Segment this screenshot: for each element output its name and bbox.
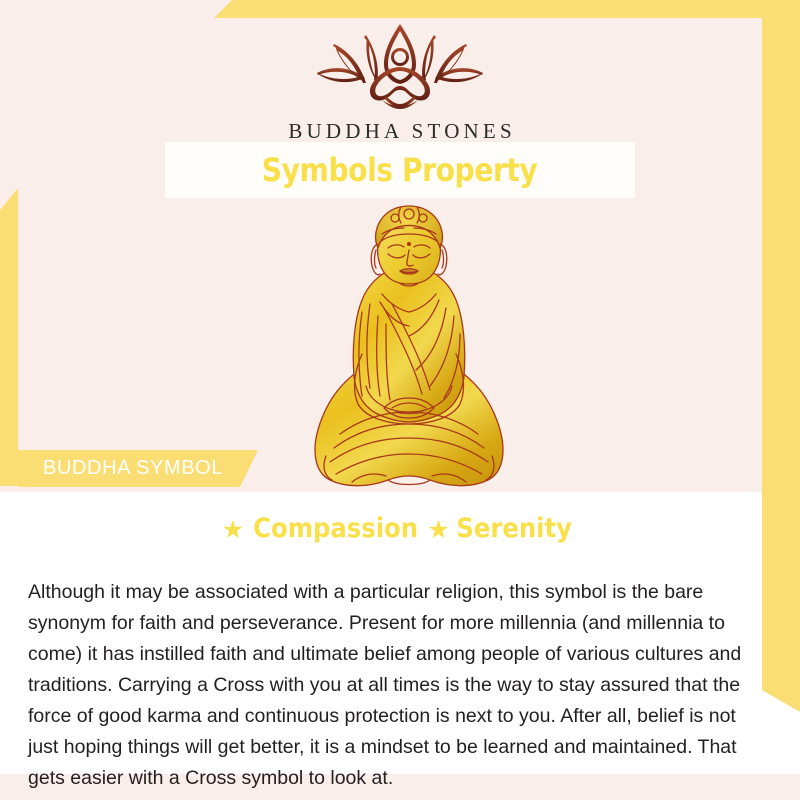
title-banner: Symbols Property: [165, 142, 635, 198]
brand-name: BUDDHA STONES: [0, 119, 800, 144]
lotus-meditation-figure-icon: [312, 22, 488, 114]
headline-word-compassion: Compassion: [253, 513, 418, 544]
decorative-band-top: [214, 0, 800, 18]
star-icon-left: ★: [222, 515, 244, 544]
category-tag-label: BUDDHA SYMBOL: [43, 457, 223, 480]
category-tag: BUDDHA SYMBOL: [18, 450, 258, 487]
page-title: Symbols Property: [262, 151, 537, 189]
section-headline: ★Compassion★Serenity: [0, 513, 800, 544]
decorative-band-left: [0, 188, 18, 486]
golden-seated-buddha-statue: [296, 204, 522, 492]
brand-logo: BUDDHA STONES: [0, 22, 800, 144]
poster-root: BUDDHA STONES Symbols Property: [0, 0, 800, 800]
headline-word-serenity: Serenity: [456, 513, 572, 544]
star-icon-right: ★: [427, 515, 449, 544]
body-paragraph: Although it may be associated with a par…: [28, 577, 770, 794]
